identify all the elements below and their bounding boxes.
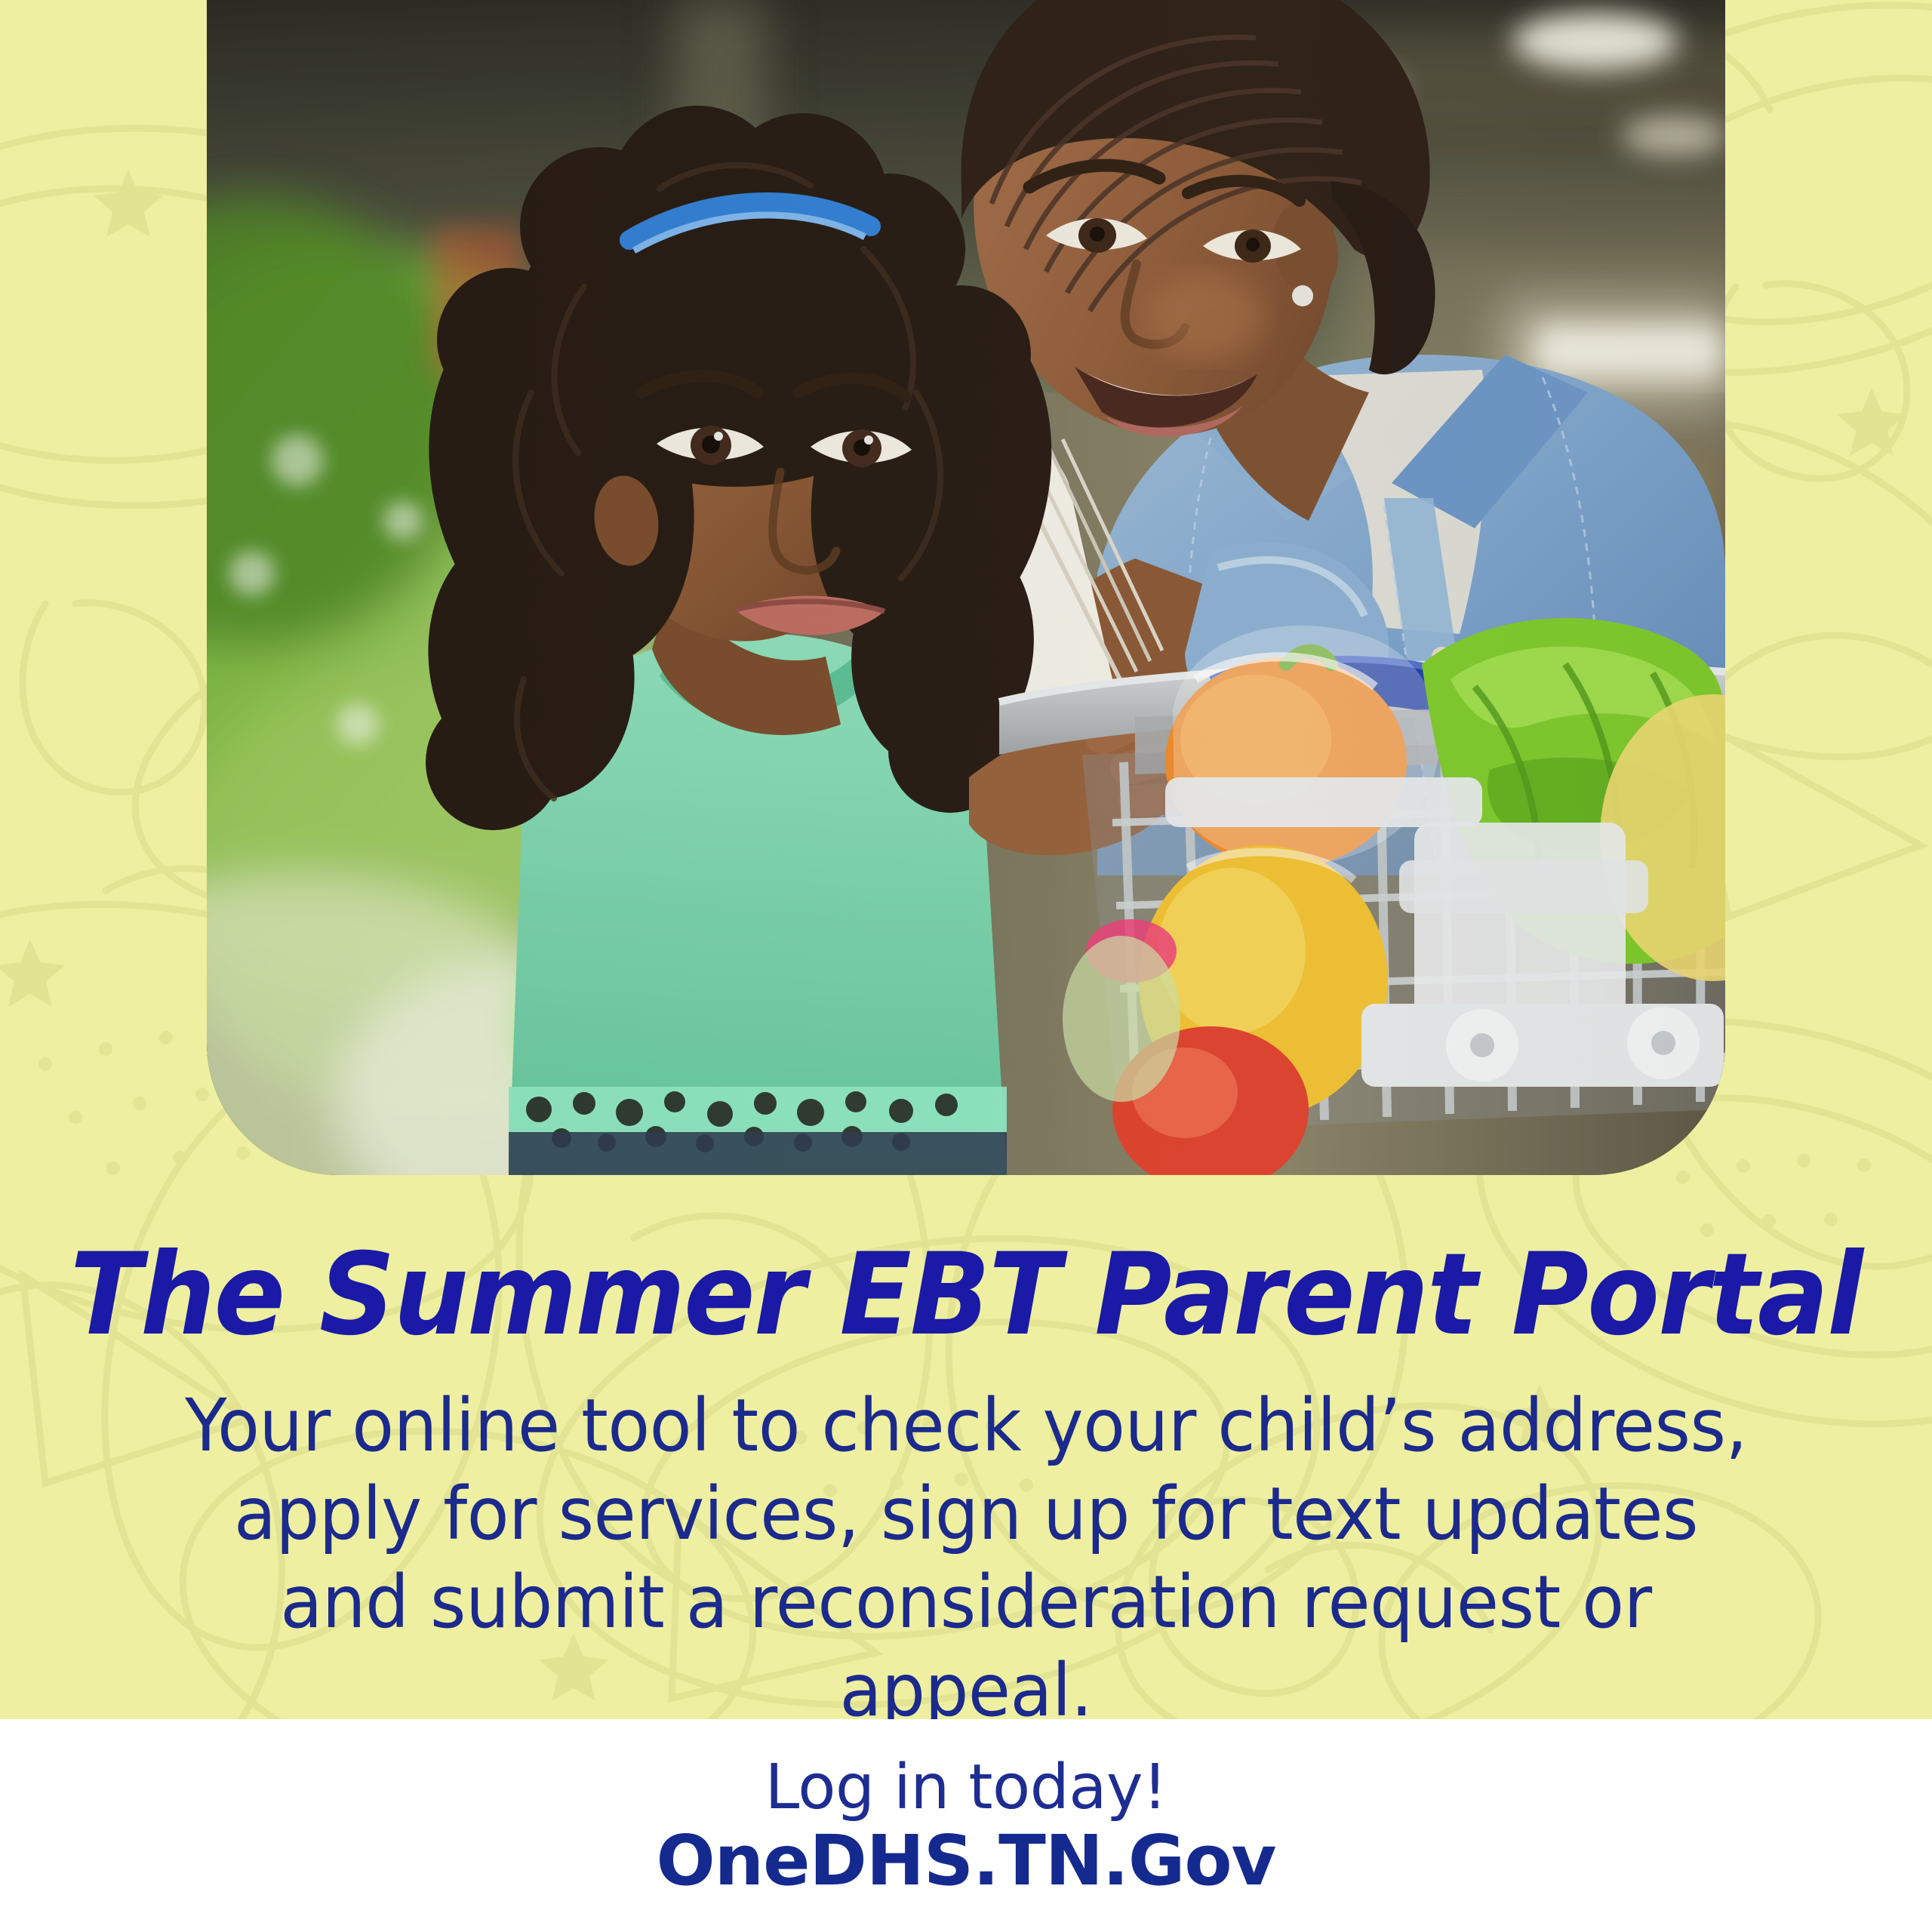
footer-band: Log in today! OneDHS.TN.Gov [0, 1719, 1932, 1932]
page-subtitle: Your online tool to check your child’s a… [177, 1382, 1755, 1735]
hero-photo-illustration [207, 0, 1725, 1175]
login-cta-text: Log in today! [0, 1719, 1932, 1820]
hero-photo [207, 0, 1725, 1175]
portal-url-link[interactable]: OneDHS.TN.Gov [0, 1825, 1932, 1898]
page-title: The Summer EBT Parent Portal [68, 1238, 1865, 1353]
headline-block: The Summer EBT Parent Portal Your online… [0, 1238, 1932, 1735]
poster-canvas: The Summer EBT Parent Portal Your online… [0, 0, 1932, 1932]
